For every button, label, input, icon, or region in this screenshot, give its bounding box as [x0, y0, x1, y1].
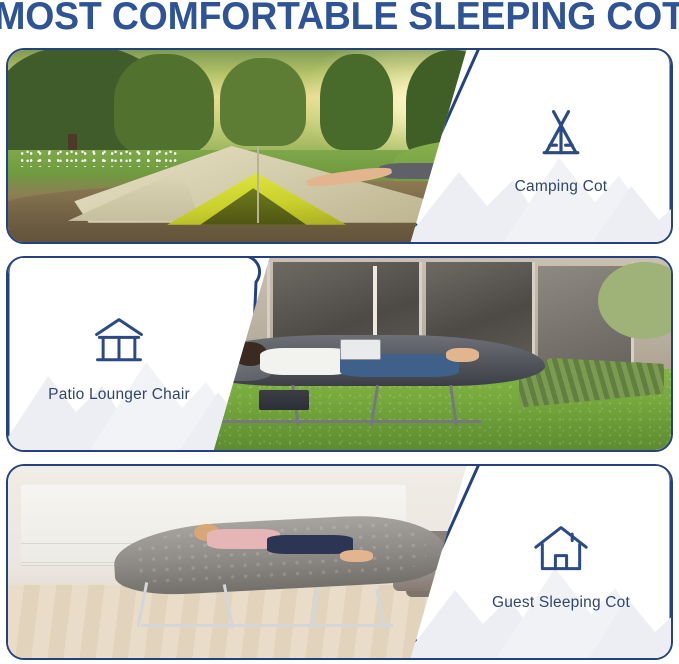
panel-guest-sleeping-cot: Guest Sleeping Cot	[6, 464, 673, 660]
tree	[220, 58, 306, 146]
panel-camping-cot: Camping Cot	[6, 48, 673, 244]
cot-rail	[141, 624, 393, 627]
wildflowers	[21, 150, 180, 167]
cot-leg	[309, 587, 320, 629]
person-feet	[340, 550, 373, 562]
storage-bag	[259, 390, 309, 410]
person-shirt	[260, 348, 353, 375]
badge-label: Guest Sleeping Cot	[492, 594, 630, 612]
page-title: MOST COMFORTABLE SLEEPING COT	[14, 0, 666, 40]
tree	[320, 54, 393, 150]
tent-pole	[257, 146, 259, 223]
person-pants	[267, 535, 353, 554]
cot-rail	[208, 420, 480, 423]
tree	[114, 54, 213, 154]
infographic-page: MOST COMFORTABLE SLEEPING COT	[0, 0, 679, 664]
badge-label: Patio Lounger Chair	[48, 386, 190, 404]
pavilion-icon	[89, 314, 149, 370]
laptop-icon	[340, 339, 382, 360]
cot-mattress	[112, 511, 447, 597]
panel-patio-lounger-chair: Patio Lounger Chair	[6, 256, 673, 452]
cot-leg	[375, 589, 386, 629]
badge-label: Camping Cot	[515, 178, 608, 196]
house-icon	[531, 522, 591, 578]
person-feet	[446, 348, 479, 361]
teepee-tent-icon	[531, 106, 591, 162]
